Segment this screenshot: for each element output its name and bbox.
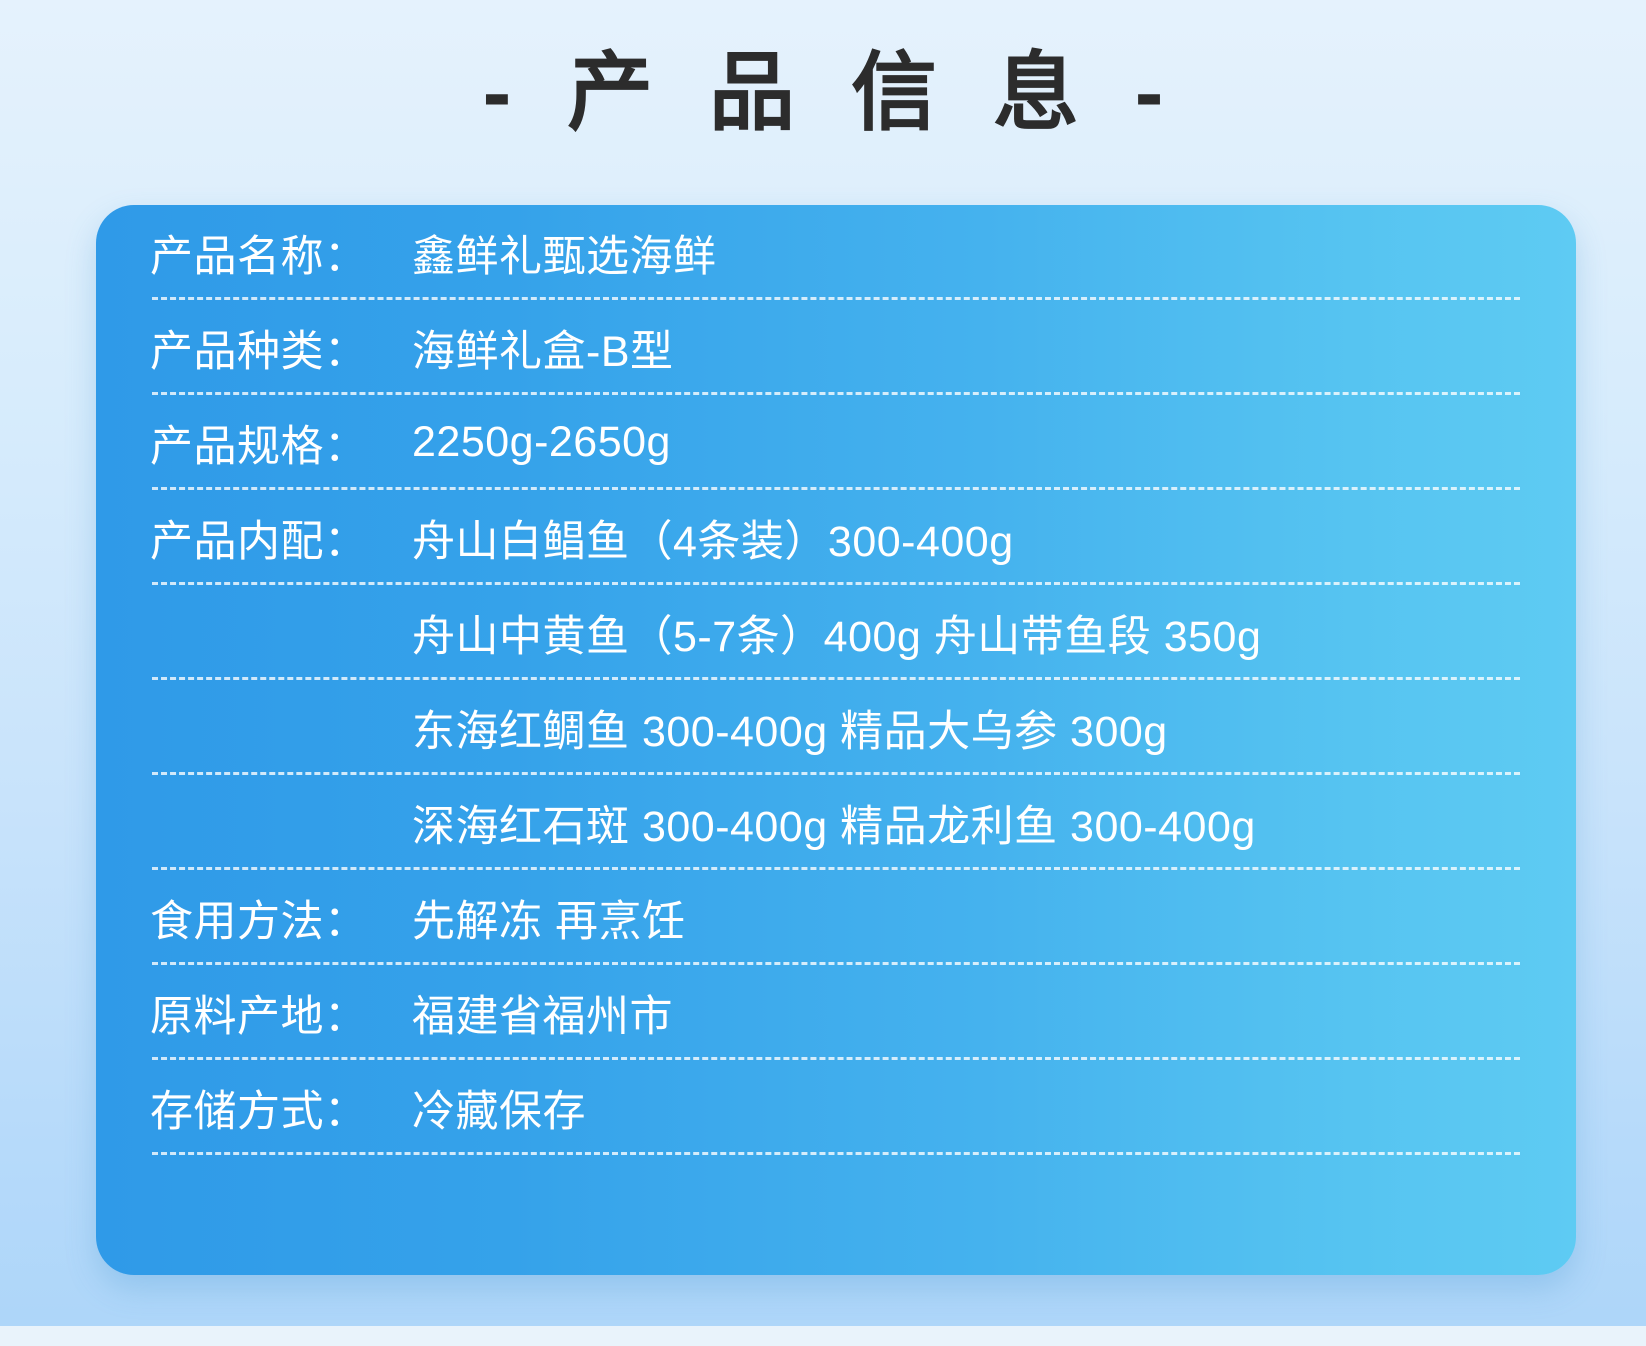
spec-value: 福建省福州市 bbox=[412, 982, 1522, 1044]
spec-value: 舟山白鲳鱼（4条装）300-400g bbox=[412, 507, 1522, 569]
spec-label: 产品规格： bbox=[150, 412, 412, 474]
product-spec-card: 产品名称：鑫鲜礼甄选海鲜产品种类：海鲜礼盒-B型产品规格：2250g-2650g… bbox=[96, 205, 1576, 1275]
spec-value: 深海红石斑 300-400g 精品龙利鱼 300-400g bbox=[412, 792, 1522, 854]
page-title-container: - 产 品 信 息 - bbox=[0, 44, 1646, 143]
spec-row: 深海红石斑 300-400g 精品龙利鱼 300-400g bbox=[150, 775, 1522, 870]
spec-row: 原料产地：福建省福州市 bbox=[150, 965, 1522, 1060]
spec-value: 鑫鲜礼甄选海鲜 bbox=[412, 222, 1522, 284]
spec-value: 2250g-2650g bbox=[412, 418, 1522, 467]
spec-label: 产品种类： bbox=[150, 317, 412, 379]
spec-value: 东海红鲷鱼 300-400g 精品大乌参 300g bbox=[412, 697, 1522, 759]
spec-label: 食用方法： bbox=[150, 887, 412, 949]
spec-row: 产品规格：2250g-2650g bbox=[150, 395, 1522, 490]
spec-label: 产品内配： bbox=[150, 507, 412, 569]
spec-table: 产品名称：鑫鲜礼甄选海鲜产品种类：海鲜礼盒-B型产品规格：2250g-2650g… bbox=[150, 205, 1522, 1275]
spec-label: 存储方式： bbox=[150, 1077, 412, 1139]
spec-value: 冷藏保存 bbox=[412, 1077, 1522, 1139]
spec-row: 存储方式：冷藏保存 bbox=[150, 1060, 1522, 1155]
spec-row: 产品名称：鑫鲜礼甄选海鲜 bbox=[150, 205, 1522, 300]
page-title: - 产 品 信 息 - bbox=[467, 44, 1180, 143]
spec-row: 食用方法：先解冻 再烹饪 bbox=[150, 870, 1522, 965]
spec-row: 产品内配：舟山白鲳鱼（4条装）300-400g bbox=[150, 490, 1522, 585]
spec-row: 舟山中黄鱼（5-7条）400g 舟山带鱼段 350g bbox=[150, 585, 1522, 680]
spec-value: 先解冻 再烹饪 bbox=[412, 887, 1522, 949]
spec-row: 东海红鲷鱼 300-400g 精品大乌参 300g bbox=[150, 680, 1522, 775]
spec-label: 原料产地： bbox=[150, 982, 412, 1044]
spec-value: 海鲜礼盒-B型 bbox=[412, 317, 1522, 379]
spec-row: 产品种类：海鲜礼盒-B型 bbox=[150, 300, 1522, 395]
spec-value: 舟山中黄鱼（5-7条）400g 舟山带鱼段 350g bbox=[412, 602, 1522, 664]
product-info-page: - 产 品 信 息 - 产品名称：鑫鲜礼甄选海鲜产品种类：海鲜礼盒-B型产品规格… bbox=[0, 0, 1646, 1346]
spec-label: 产品名称： bbox=[150, 222, 412, 284]
bottom-strip bbox=[0, 1326, 1646, 1346]
